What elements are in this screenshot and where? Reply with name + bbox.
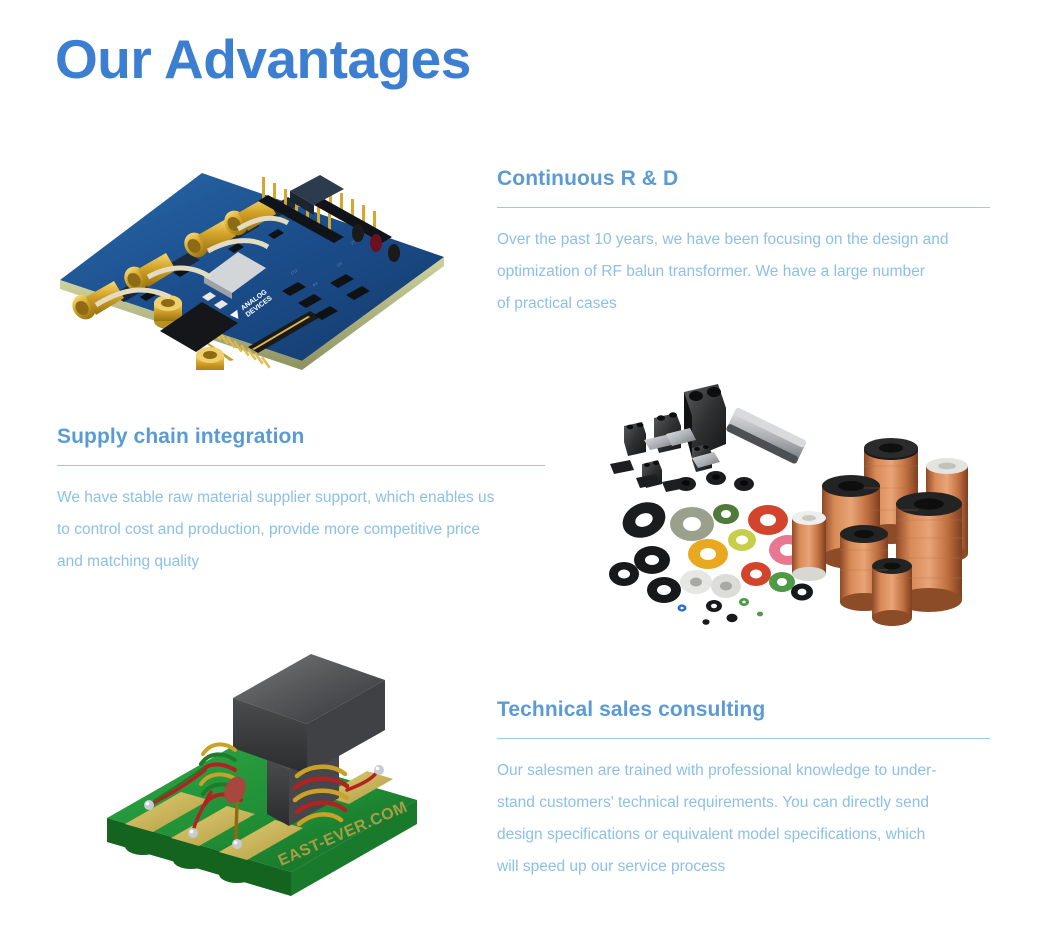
body-line: Our salesmen are trained with profession… bbox=[497, 755, 990, 787]
advantages-page: Our Advantages bbox=[0, 0, 1060, 931]
transformer-on-green-pcb-render: EAST-EVER.COM bbox=[85, 650, 445, 900]
heading-divider bbox=[497, 738, 990, 739]
heading-divider bbox=[57, 465, 545, 466]
body-line: to control cost and production, provide … bbox=[57, 514, 545, 546]
advantage-body-continuous-rd: Over the past 10 years, we have been foc… bbox=[497, 224, 990, 320]
rf-evaluation-board-photo: ANALOG DEVICES C12 R4 U3 J7 bbox=[52, 125, 452, 370]
body-line: stand customers' technical requirements.… bbox=[497, 787, 990, 819]
advantage-block-supply-chain: Supply chain integration We have stable … bbox=[57, 424, 545, 578]
advantage-heading-supply-chain: Supply chain integration bbox=[57, 424, 545, 449]
body-line: Over the past 10 years, we have been foc… bbox=[497, 224, 990, 256]
advantage-heading-technical-sales: Technical sales consulting bbox=[497, 697, 990, 722]
advantage-body-technical-sales: Our salesmen are trained with profession… bbox=[497, 755, 990, 883]
advantage-body-supply-chain: We have stable raw material supplier sup… bbox=[57, 482, 545, 578]
advantage-heading-continuous-rd: Continuous R & D bbox=[497, 166, 990, 191]
ferrite-cores-and-copper-wire-spools-photo bbox=[596, 378, 968, 626]
body-line: of practical cases bbox=[497, 288, 990, 320]
page-title: Our Advantages bbox=[55, 28, 471, 91]
body-line: will speed up our service process bbox=[497, 851, 990, 883]
body-line: optimization of RF balun transformer. We… bbox=[497, 256, 990, 288]
heading-divider bbox=[497, 207, 990, 208]
body-line: and matching quality bbox=[57, 546, 545, 578]
body-line: design specifications or equivalent mode… bbox=[497, 819, 990, 851]
advantage-block-continuous-rd: Continuous R & D Over the past 10 years,… bbox=[497, 166, 990, 320]
advantage-block-technical-sales: Technical sales consulting Our salesmen … bbox=[497, 697, 990, 883]
body-line: We have stable raw material supplier sup… bbox=[57, 482, 545, 514]
